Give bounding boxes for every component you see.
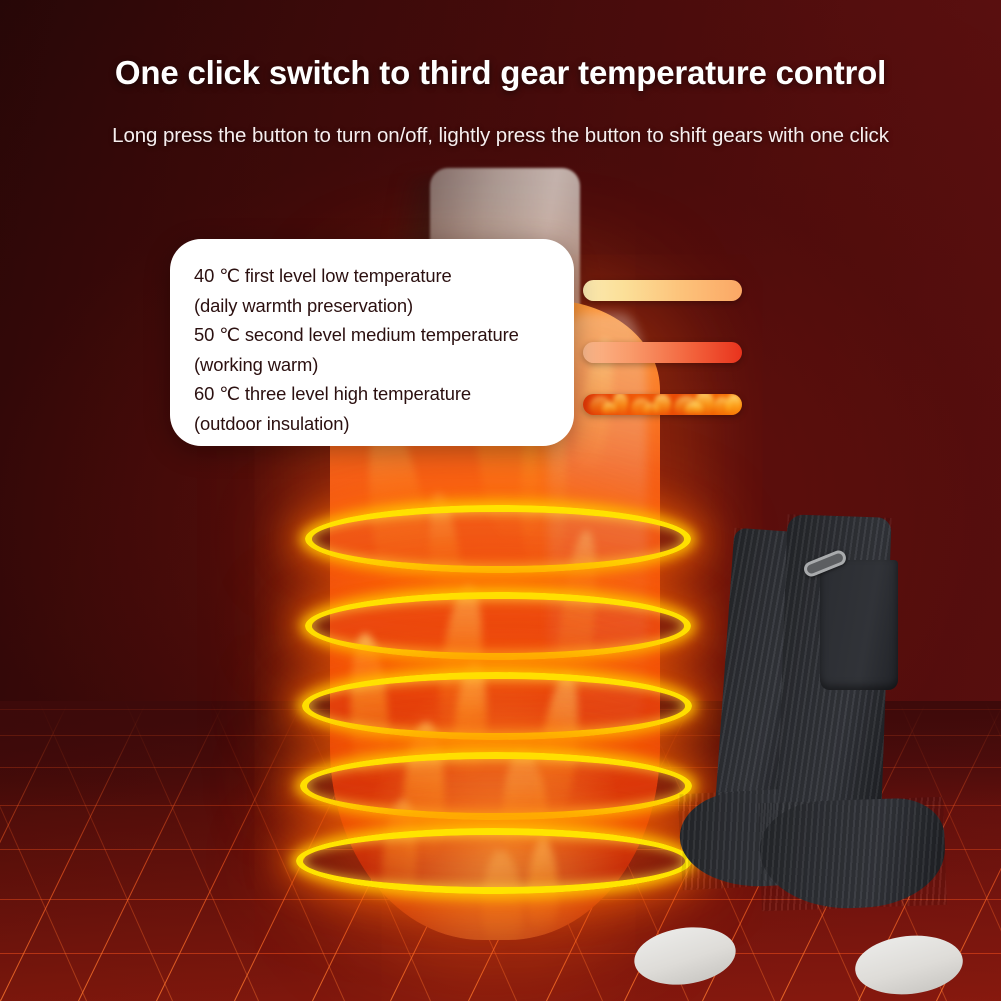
heat-ring-4	[300, 752, 692, 820]
info-card-line-1: 40 ℃ first level low temperature	[194, 261, 574, 291]
heat-level-bar-3	[583, 394, 742, 415]
page-subtitle: Long press the button to turn on/off, li…	[0, 124, 1001, 148]
flame-ember	[602, 402, 616, 415]
heat-level-bar-1	[583, 280, 742, 301]
info-card-line-4: (working warm)	[194, 350, 574, 380]
heat-level-bar-2	[583, 342, 742, 363]
flame-ember	[685, 402, 703, 415]
heat-ring-1	[305, 505, 691, 573]
info-card-line-3: 50 ℃ second level medium temperature	[194, 320, 574, 350]
info-card-line-5: 60 ℃ three level high temperature	[194, 379, 574, 409]
heat-ring-3	[302, 672, 692, 740]
battery-pocket[interactable]	[820, 560, 898, 690]
flame-ember	[726, 394, 742, 415]
heat-ring-2	[305, 592, 691, 660]
promo-banner: 40 ℃ first level low temperature (daily …	[0, 0, 1001, 1001]
info-card-line-6: (outdoor insulation)	[194, 409, 574, 439]
sock-rib-texture	[758, 797, 947, 911]
flame-ember	[643, 403, 659, 415]
info-card-line-2: (daily warmth preservation)	[194, 291, 574, 321]
temperature-info-card: 40 ℃ first level low temperature (daily …	[170, 239, 574, 446]
heat-ring-5	[296, 828, 692, 894]
page-title: One click switch to third gear temperatu…	[0, 54, 1001, 92]
